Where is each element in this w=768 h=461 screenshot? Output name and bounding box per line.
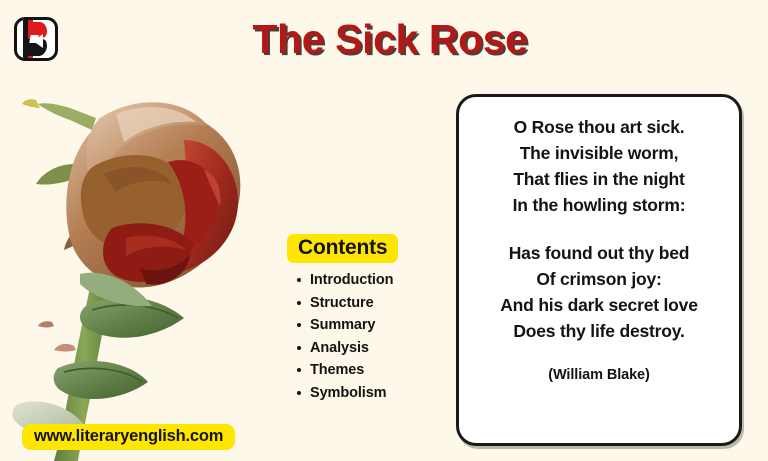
stanza-separator: [471, 218, 727, 240]
poem-line: That flies in the night: [471, 166, 727, 192]
bullet-icon: [297, 368, 301, 372]
contents-heading: Contents: [287, 234, 398, 263]
contents-item-structure[interactable]: Structure: [297, 295, 437, 311]
logo-letter-e-wedge: [33, 34, 43, 48]
contents-item-analysis[interactable]: Analysis: [297, 340, 437, 356]
poem-line: Does thy life destroy.: [471, 318, 727, 344]
poem-line: In the howling storm:: [471, 192, 727, 218]
poster-canvas: The Sick Rose: [0, 0, 768, 461]
rose-graphic: [8, 78, 270, 461]
contents-item-introduction[interactable]: Introduction: [297, 272, 437, 288]
rose-node: [38, 321, 54, 327]
poem-line: And his dark secret love: [471, 292, 727, 318]
bullet-icon: [297, 323, 301, 327]
contents-item-label: Structure: [310, 295, 374, 311]
contents-item-label: Themes: [310, 362, 364, 378]
poem-author: (William Blake): [471, 367, 727, 383]
poem-line: The invisible worm,: [471, 140, 727, 166]
contents-list: Introduction Structure Summary Analysis …: [287, 272, 437, 401]
bullet-icon: [297, 391, 301, 395]
contents-section: Contents Introduction Structure Summary …: [287, 234, 437, 407]
poem-line: O Rose thou art sick.: [471, 114, 727, 140]
wilted-rose-photo: [8, 78, 270, 461]
rose-bud-tip: [22, 99, 40, 108]
rose-twig: [38, 103, 96, 130]
rose-thorn-upper: [54, 344, 76, 352]
poem-line: Has found out thy bed: [471, 240, 727, 266]
contents-item-label: Introduction: [310, 272, 393, 288]
contents-item-symbolism[interactable]: Symbolism: [297, 385, 437, 401]
poem-line: Of crimson joy:: [471, 266, 727, 292]
bullet-icon: [297, 346, 301, 350]
poem-stanza-1: O Rose thou art sick. The invisible worm…: [471, 114, 727, 218]
page-title: The Sick Rose: [180, 16, 600, 63]
literary-english-logo[interactable]: [14, 17, 58, 61]
bullet-icon: [297, 278, 301, 282]
poem-stanza-2: Has found out thy bed Of crimson joy: An…: [471, 240, 727, 344]
rose-leaf-lower: [54, 361, 148, 399]
contents-item-label: Symbolism: [310, 385, 386, 401]
website-url-banner[interactable]: www.literaryenglish.com: [22, 424, 235, 450]
contents-item-label: Summary: [310, 317, 375, 333]
contents-item-themes[interactable]: Themes: [297, 362, 437, 378]
contents-item-label: Analysis: [310, 340, 369, 356]
logo-artwork: [17, 20, 55, 58]
contents-item-summary[interactable]: Summary: [297, 317, 437, 333]
poem-card: O Rose thou art sick. The invisible worm…: [456, 94, 742, 446]
bullet-icon: [297, 301, 301, 305]
